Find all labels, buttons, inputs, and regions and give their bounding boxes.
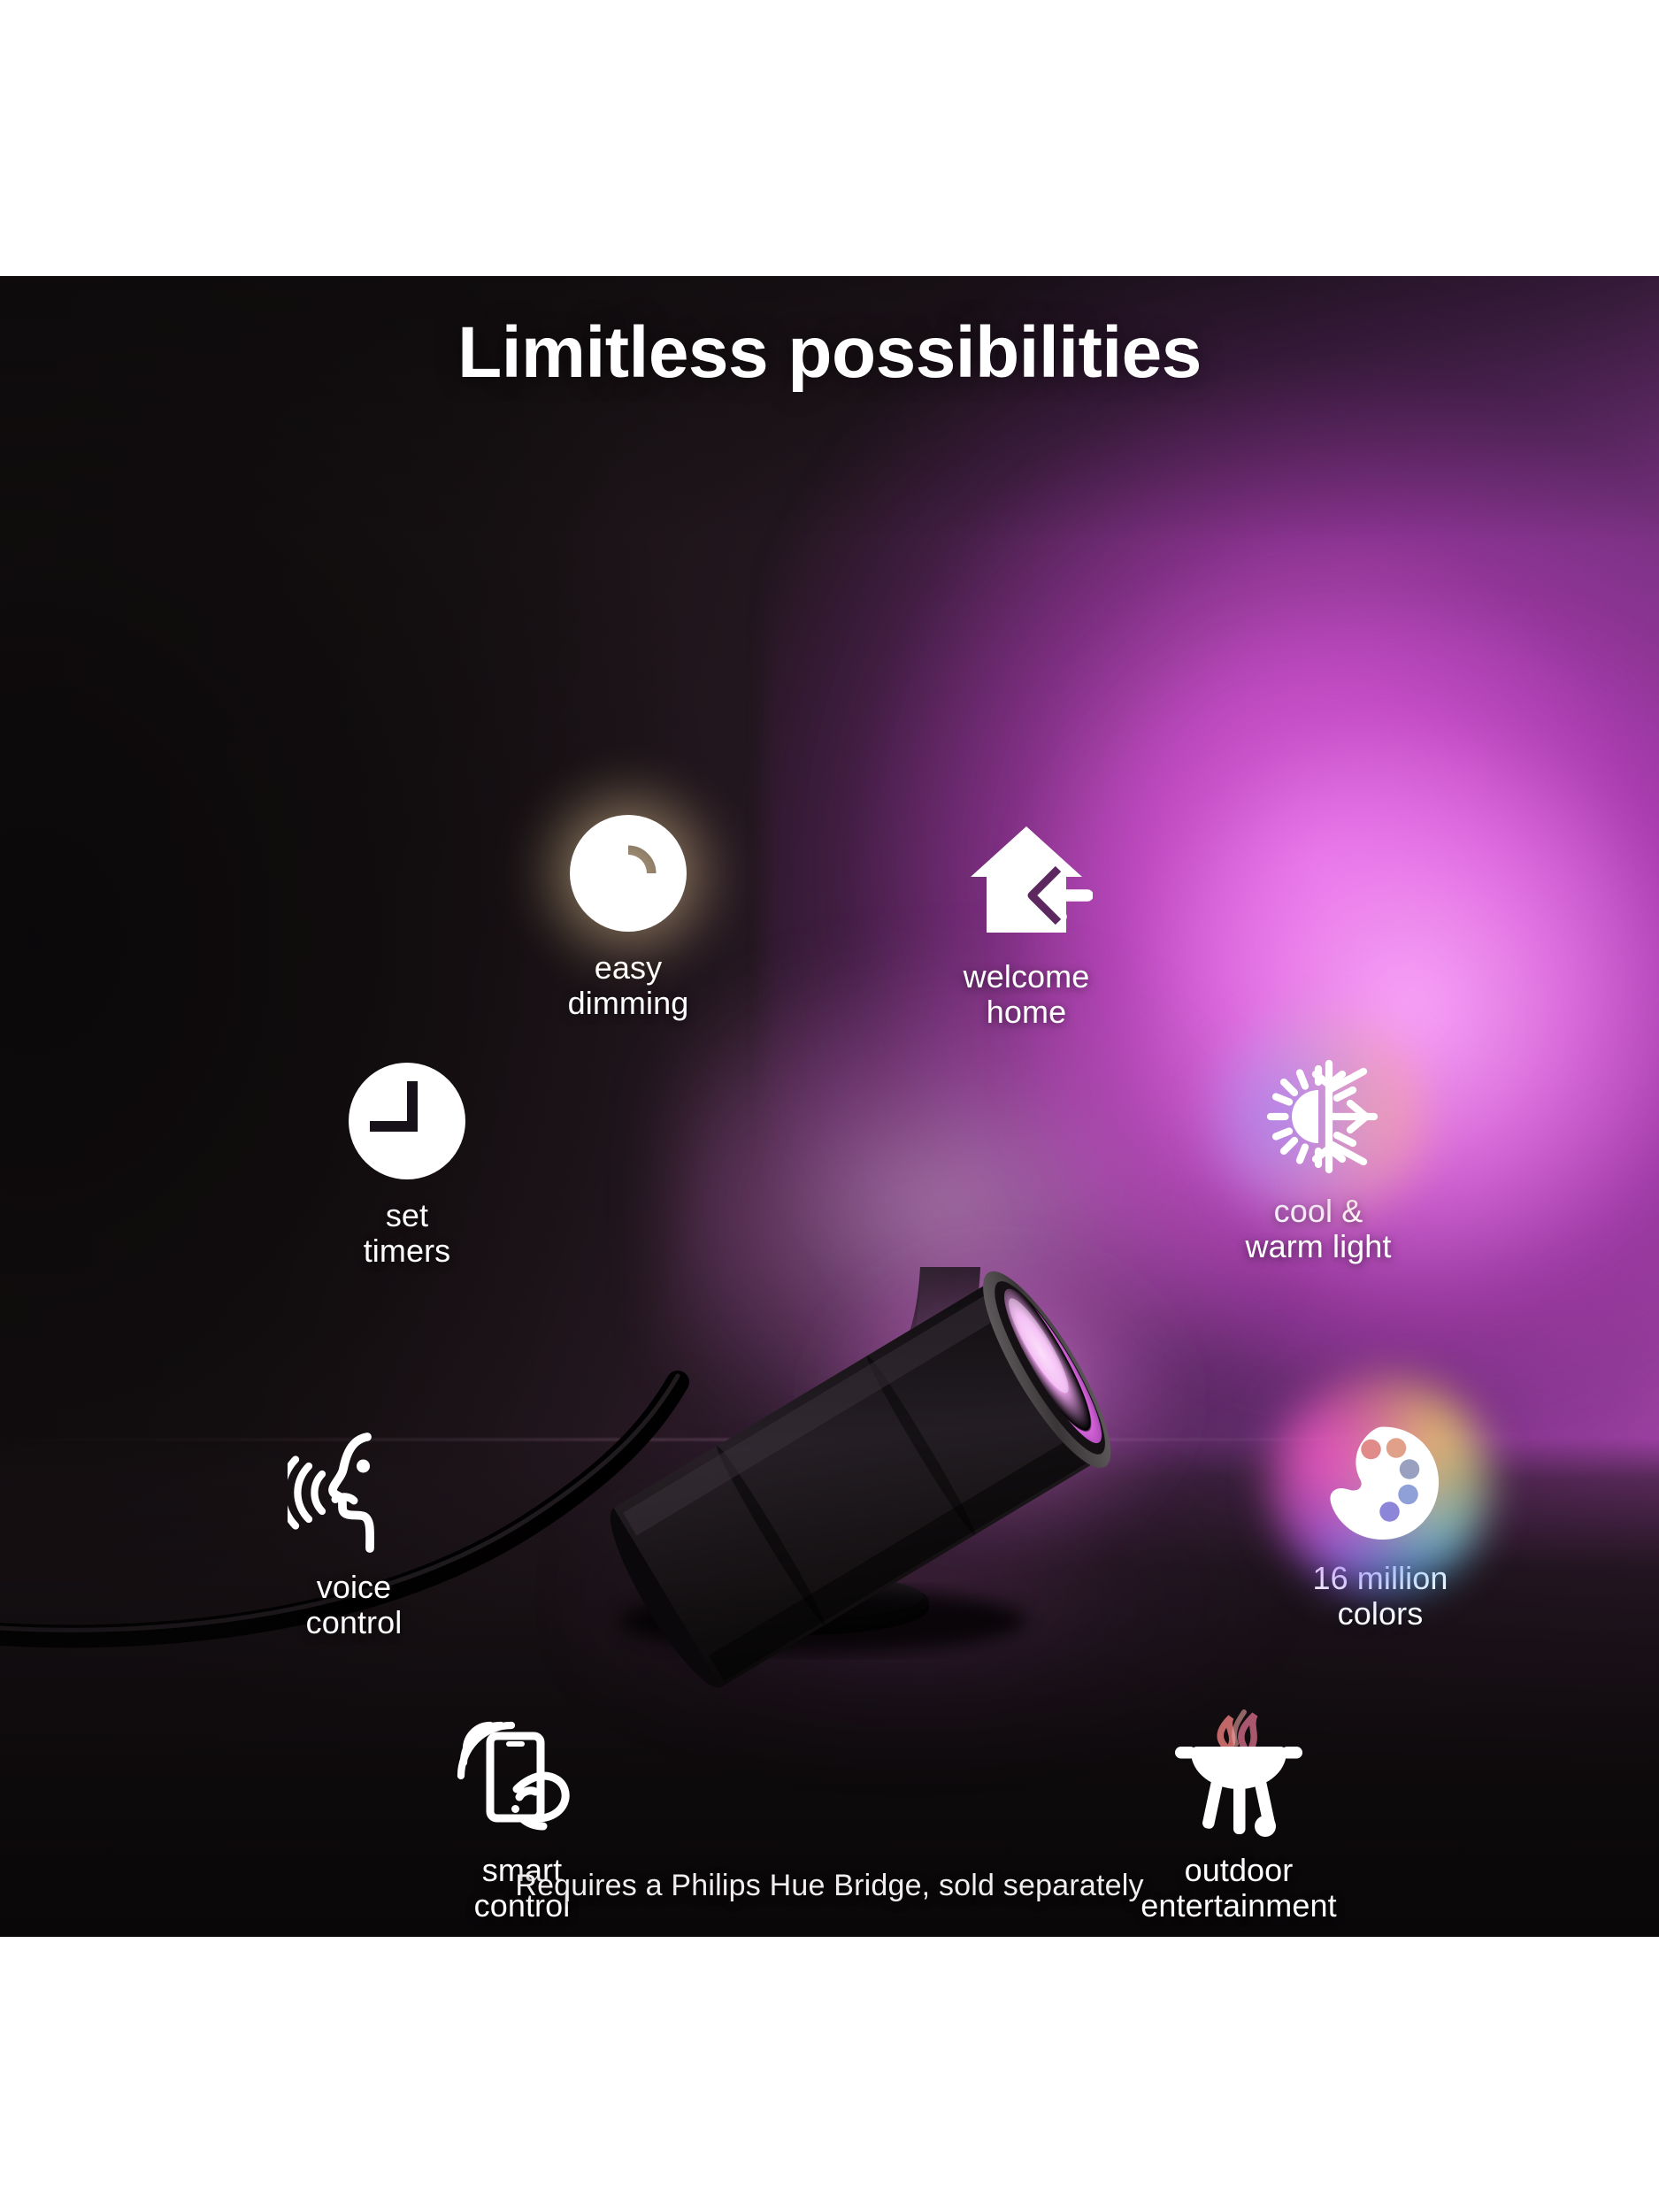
clock-icon (341, 1055, 473, 1187)
bbq-grill-icon (1172, 1709, 1305, 1842)
icon-container (288, 1426, 420, 1559)
feature-set-timers: set timers (283, 1055, 531, 1270)
bridge-disclaimer: Requires a Philips Hue Bridge, sold sepa… (0, 1869, 1659, 1903)
icon-container (1314, 1417, 1447, 1550)
feature-16-million-colors: 16 million colors (1239, 1417, 1522, 1632)
dimmer-dial-icon (562, 807, 695, 940)
product-image-page: Limitless possibilities easy dimming (0, 0, 1659, 2212)
feature-label: easy dimming (495, 950, 761, 1022)
icon-container (562, 807, 695, 940)
phone-hand-icon (456, 1709, 588, 1842)
feature-label: cool & warm light (1177, 1194, 1460, 1265)
icon-container (341, 1055, 473, 1187)
feature-easy-dimming: easy dimming (495, 807, 761, 1022)
feature-label: set timers (283, 1198, 531, 1270)
icon-container (1252, 1050, 1385, 1183)
page-title: Limitless possibilities (0, 317, 1659, 389)
icon-container (456, 1709, 588, 1842)
palette-dot-4 (1379, 1502, 1400, 1522)
feature-voice-control: voice control (221, 1426, 487, 1641)
sun-snowflake-icon (1252, 1050, 1385, 1183)
feature-label: voice control (221, 1570, 487, 1641)
feature-label: 16 million colors (1239, 1561, 1522, 1632)
house-arrow-icon (960, 816, 1093, 949)
hero-artwork: Limitless possibilities easy dimming (0, 276, 1659, 1937)
icon-container (1172, 1709, 1305, 1842)
paint-palette-icon (1314, 1417, 1447, 1550)
feature-label: welcome home (894, 959, 1159, 1031)
palette-dot-1 (1386, 1438, 1407, 1458)
icon-container (960, 816, 1093, 949)
palette-dot-0 (1361, 1440, 1381, 1460)
palette-dot-3 (1398, 1485, 1418, 1505)
speaking-face-icon (288, 1426, 420, 1559)
feature-welcome-home: welcome home (894, 816, 1159, 1031)
palette-dot-2 (1400, 1459, 1420, 1479)
feature-cool-warm-light: cool & warm light (1177, 1050, 1460, 1265)
